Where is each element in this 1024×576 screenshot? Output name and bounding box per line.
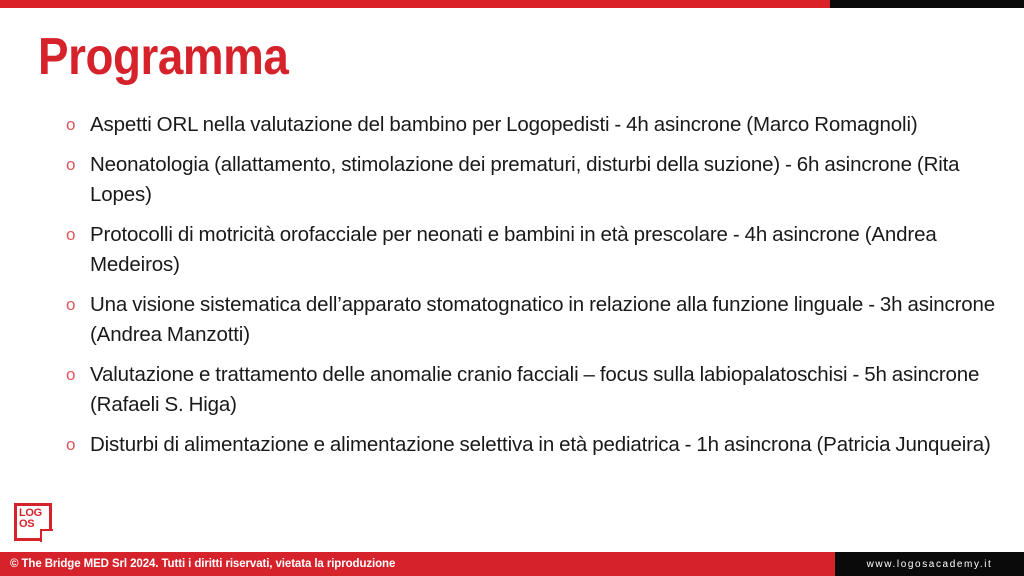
list-item-text: Protocolli di motricità orofacciale per … <box>90 220 996 280</box>
logos-logo: LOG OS <box>14 503 52 541</box>
circle-bullet-icon: o <box>56 110 90 140</box>
list-item-text: Valutazione e trattamento delle anomalie… <box>90 360 996 420</box>
list-item: o Disturbi di alimentazione e alimentazi… <box>56 430 996 460</box>
list-item: o Una visione sistematica dell’apparato … <box>56 290 996 350</box>
page-title: Programma <box>38 30 288 85</box>
list-item-text: Neonatologia (allattamento, stimolazione… <box>90 150 996 210</box>
circle-bullet-icon: o <box>56 360 90 390</box>
list-item: o Aspetti ORL nella valutazione del bamb… <box>56 110 996 140</box>
list-item-text: Una visione sistematica dell’apparato st… <box>90 290 996 350</box>
footer-copyright: © The Bridge MED Srl 2024. Tutti i dirit… <box>0 552 835 576</box>
logo-wordmark: LOG OS <box>19 508 42 530</box>
list-item: o Neonatologia (allattamento, stimolazio… <box>56 150 996 210</box>
circle-bullet-icon: o <box>56 430 90 460</box>
circle-bullet-icon: o <box>56 220 90 250</box>
top-accent-bar-red <box>0 0 830 8</box>
circle-bullet-icon: o <box>56 290 90 320</box>
top-accent-bar <box>0 0 1024 8</box>
circle-bullet-icon: o <box>56 150 90 180</box>
list-item: o Protocolli di motricità orofacciale pe… <box>56 220 996 280</box>
logo-corner-notch <box>40 529 53 542</box>
footer-bar: © The Bridge MED Srl 2024. Tutti i dirit… <box>0 552 1024 576</box>
top-accent-bar-black <box>830 0 1024 8</box>
slide: Programma o Aspetti ORL nella valutazion… <box>0 0 1024 576</box>
program-list: o Aspetti ORL nella valutazione del bamb… <box>56 110 996 470</box>
list-item: o Valutazione e trattamento delle anomal… <box>56 360 996 420</box>
footer-website: www.logosacademy.it <box>835 552 1024 576</box>
list-item-text: Aspetti ORL nella valutazione del bambin… <box>90 110 996 140</box>
logo-wordmark-line2: OS <box>19 519 42 530</box>
list-item-text: Disturbi di alimentazione e alimentazion… <box>90 430 996 460</box>
